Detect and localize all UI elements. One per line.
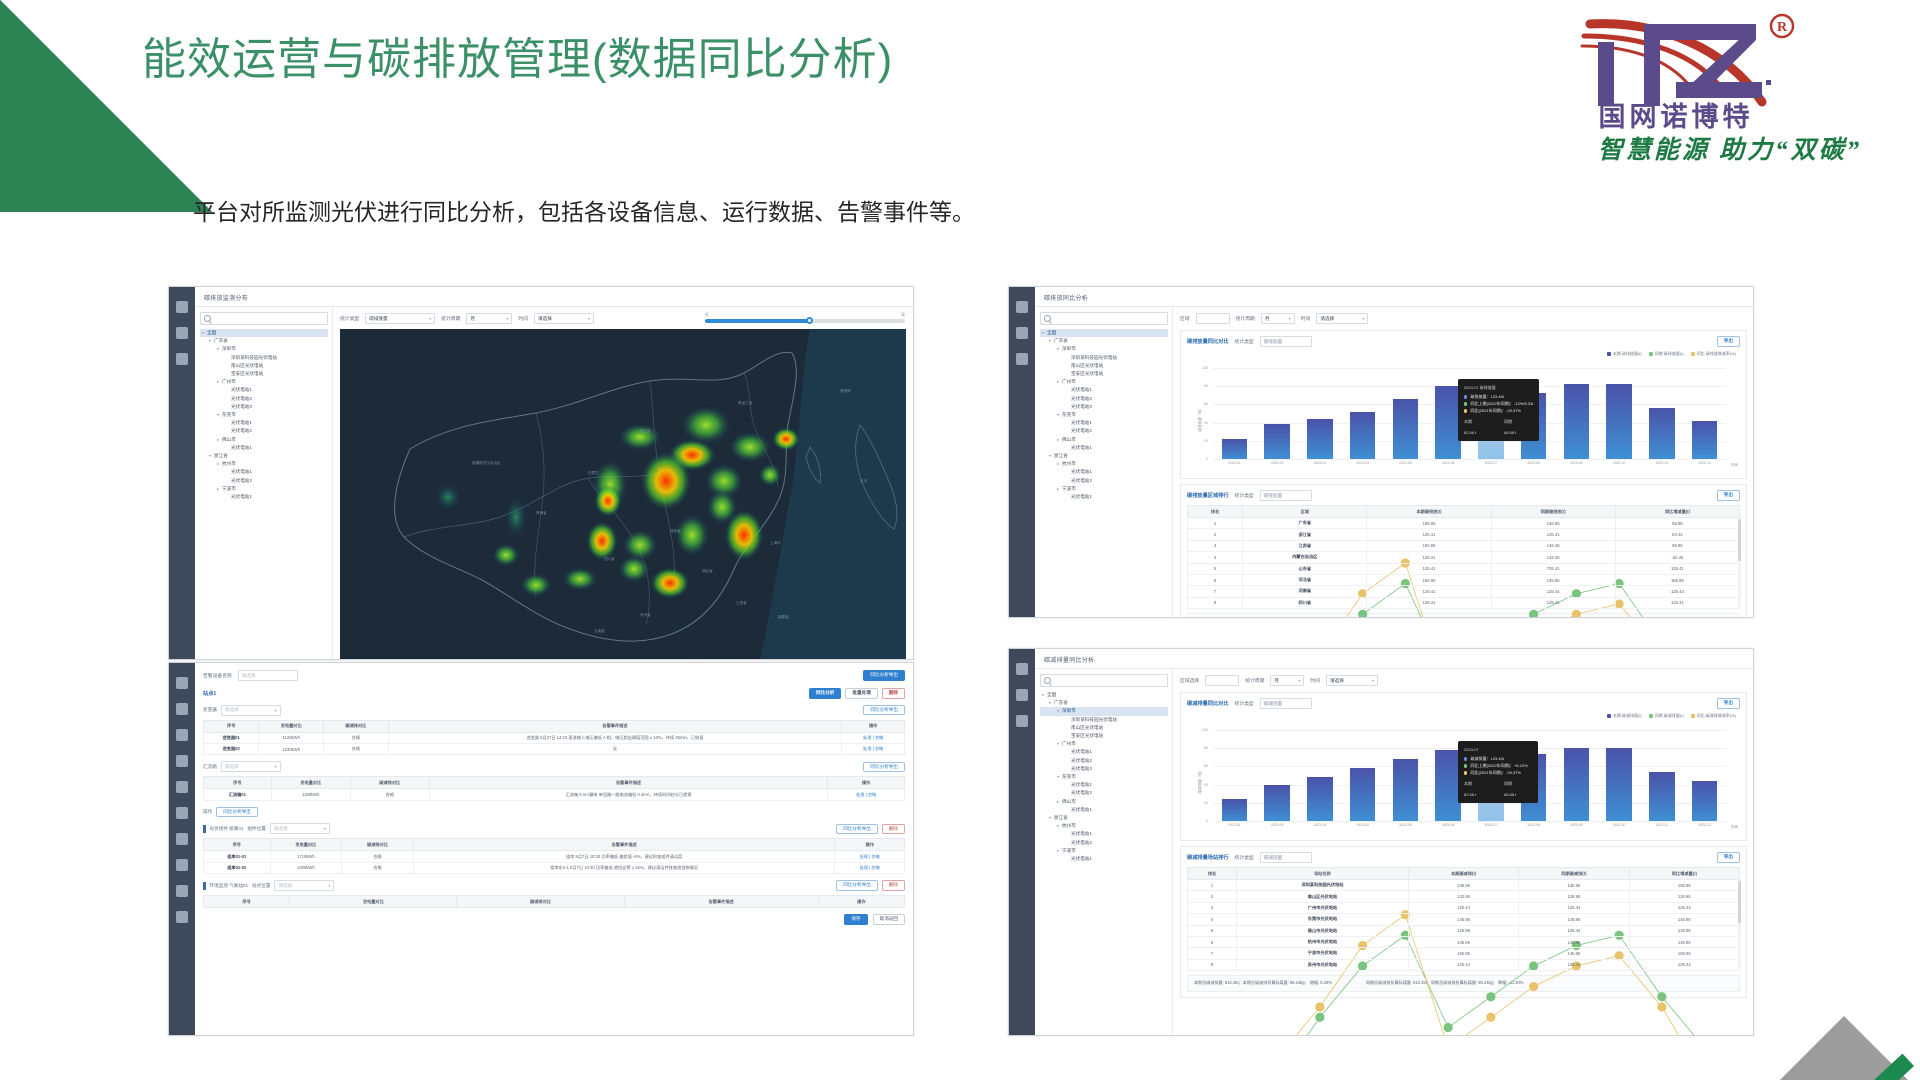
- logo-company-name: 国网诺博特: [1599, 101, 1754, 132]
- filter-select[interactable]: 月▾: [466, 313, 512, 324]
- table-cell: 广东省: [1243, 518, 1367, 529]
- y-axis-tick: 0: [1206, 819, 1208, 823]
- tree-node-list-emission[interactable]: ▾全国▾广东省▾深圳市深圳某科技园光伏电站南山区光伏电站宝安区光伏电站▾广州市光…: [1040, 329, 1168, 501]
- emission-bar-chart[interactable]: 本期 碳排放量(t)同期 碳排放量(t)同比 碳排放增减率(%)碳排放量（吨）0…: [1187, 351, 1740, 473]
- tree-node[interactable]: ▾东莞市: [1040, 773, 1168, 781]
- alarm-sub-label: 操作: [203, 809, 212, 815]
- chevron-down-icon: ▾: [506, 316, 508, 321]
- section-export-button[interactable]: 同比分析导出: [863, 705, 905, 716]
- tree-node[interactable]: ▸杭州市: [1040, 822, 1168, 830]
- chevron-down-icon: ▾: [1289, 316, 1291, 321]
- legend-swatch: [1607, 714, 1611, 718]
- table-cell: 168.95: [1629, 948, 1739, 959]
- tooltip-dot: [1464, 764, 1468, 768]
- tree-node[interactable]: ▾广东省: [1040, 699, 1168, 707]
- tree-node[interactable]: 南山区光伏电站: [1040, 362, 1168, 370]
- table-cell: 132.45: [1491, 552, 1615, 563]
- home-icon[interactable]: [176, 301, 188, 313]
- table-cell: 河南省: [1243, 586, 1367, 597]
- tree-node-list-map[interactable]: ▾全国▾广东省▾深圳市深圳某科技园光伏电站南山区光伏电站宝安区光伏电站▾广州市光…: [200, 329, 328, 501]
- chart-tooltip: 2023-07碳减排量：123.45t同比上期(2022年同期)：+6.12%同…: [1458, 741, 1538, 803]
- legend-item[interactable]: 本期 碳减排量(t): [1607, 713, 1642, 719]
- table-row[interactable]: 1广东省168.95146.9568.95: [1188, 518, 1740, 529]
- tree-node[interactable]: 光伏电站1: [200, 493, 328, 501]
- column-header: 碳减排对比: [324, 720, 389, 732]
- table-row[interactable]: 逆变器011120kWh合格逆变器 5月27日 14:23 直流输入电压偏低 A…: [204, 732, 905, 743]
- reduction-rank-table-wrap[interactable]: 排名场站名称本期碳减排(t)同期碳减排(t)同比增减量(t)1深圳某科技园光伏电…: [1187, 867, 1740, 971]
- filter-label: 时间: [1310, 677, 1320, 684]
- table-row[interactable]: 4内蒙古自治区129.41132.45-62.45: [1188, 552, 1740, 563]
- chart-icon[interactable]: [1016, 689, 1028, 701]
- emission-chart-type-select[interactable]: 碳排放量: [1260, 336, 1312, 347]
- column-header: 序号: [204, 720, 259, 732]
- group-compare-button[interactable]: 同比分析: [809, 688, 841, 699]
- tree-node-label: 广州市: [1062, 378, 1076, 386]
- chart-icon[interactable]: [176, 327, 188, 339]
- section-export-button[interactable]: 同比分析导出: [863, 762, 905, 773]
- table-cell: 702.41: [1491, 563, 1615, 574]
- table-row[interactable]: 2浙江省125.41125.4164.42: [1188, 529, 1740, 540]
- app-rail-emission[interactable]: [1009, 287, 1035, 617]
- table-cell: 4: [1188, 914, 1237, 925]
- tree-node[interactable]: 光伏电站1: [200, 444, 328, 452]
- search-icon: [1044, 677, 1051, 684]
- column-header: 同期碳减排(t): [1519, 868, 1629, 880]
- table-row[interactable]: 7宁波市光伏电站165.95145.95168.95: [1188, 948, 1740, 959]
- tree-node-label: 宁波市: [222, 485, 236, 493]
- slider-knob[interactable]: [806, 317, 813, 324]
- table-row[interactable]: 逆变器021230kWh合格无处理 | 忽略: [204, 743, 905, 754]
- group-batch-button[interactable]: 批量处理: [845, 688, 877, 699]
- tree-node[interactable]: 光伏电站1: [1040, 855, 1168, 863]
- table-cell: 132.95: [1408, 891, 1518, 902]
- map-region-label: 青海省: [536, 511, 547, 516]
- filter-select[interactable]: 月▾: [1261, 313, 1295, 324]
- table-cell: 165.95: [1408, 948, 1518, 959]
- tooltip-table-head: 本期同期: [1464, 780, 1532, 787]
- tree-node[interactable]: 光伏电站3: [200, 403, 328, 411]
- block-buttons: 同比分析导出删除: [836, 824, 905, 835]
- table-cell: 深圳某科技园光伏电站: [1237, 880, 1409, 891]
- table-cell: 7: [1188, 948, 1237, 959]
- table-cell: 125.41: [1615, 563, 1739, 574]
- table-cell: 杭州市光伏电站: [1237, 936, 1409, 947]
- column-header: 操作: [842, 720, 905, 732]
- table-cell: 146.95: [1519, 936, 1629, 947]
- block-filter-select[interactable]: 请选择▾: [274, 880, 334, 891]
- column-header: 排名: [1188, 868, 1237, 880]
- column-header: 发电量对比: [290, 896, 457, 908]
- tree-node-label: 光伏电站1: [231, 493, 252, 501]
- tooltip-dot: [1464, 409, 1468, 413]
- table-cell: 组串01-02: [204, 862, 271, 873]
- tree-node[interactable]: ▾广州市: [200, 378, 328, 386]
- tree-node[interactable]: 光伏电站1: [1040, 493, 1168, 501]
- region-tree-reduction[interactable]: ▾全国▾广东省▾深圳市深圳某科技园光伏电站南山区光伏电站宝安区光伏电站▾广州市光…: [1035, 669, 1173, 1035]
- filter-text[interactable]: [1196, 313, 1230, 324]
- tree-node[interactable]: ▾深圳市: [1040, 345, 1168, 353]
- table-row[interactable]: 5山东省125.41702.41125.41: [1188, 563, 1740, 574]
- tree-node[interactable]: ▾深圳市: [1040, 707, 1168, 715]
- tree-node[interactable]: ▾深圳市: [200, 345, 328, 353]
- column-header: 场站名称: [1237, 868, 1409, 880]
- table-cell: 165.95: [1367, 574, 1491, 585]
- table-cell: 125.41: [1615, 597, 1739, 608]
- alarm-group-title: 站点1: [203, 690, 216, 697]
- tree-node[interactable]: ▾广东省: [200, 337, 328, 345]
- y-axis-tick: 40: [1204, 783, 1208, 787]
- tree-node-label: 浙江省: [1054, 452, 1068, 460]
- table-row[interactable]: 组串01-021300kWh合格组串东2-1 5月7日 10:30 功率偏低 遮…: [204, 862, 905, 873]
- chevron-down-icon: ▾: [324, 826, 326, 831]
- region-tree-map[interactable]: ▾全国▾广东省▾深圳市深圳某科技园光伏电站南山区光伏电站宝安区光伏电站▾广州市光…: [195, 307, 333, 659]
- tree-node[interactable]: 光伏电站1: [1040, 386, 1168, 394]
- legend-item[interactable]: 同比 碳减排增减率(%): [1691, 713, 1736, 719]
- logo-slogan: 智慧能源 助力“双碳”: [1554, 130, 1906, 166]
- column-header: 同比增减量(t): [1629, 868, 1739, 880]
- filter-label: 统计周期: [1236, 315, 1255, 322]
- tree-node[interactable]: 光伏电站1: [1040, 781, 1168, 789]
- tree-node[interactable]: 光伏电站3: [1040, 765, 1168, 773]
- tree-node[interactable]: 光伏电站1: [1040, 748, 1168, 756]
- tree-node-label: 杭州市: [1062, 460, 1076, 468]
- emission-filter-bar[interactable]: 区域统计周期月▾时间请选择▾: [1180, 312, 1747, 325]
- alarm-sub-export-button[interactable]: 同比分析导出: [216, 807, 258, 818]
- tree-node[interactable]: ▾全国: [200, 329, 328, 337]
- group-delete-button[interactable]: 删除: [882, 688, 905, 699]
- company-logo: R 国网诺博特 智慧能源 助力“双碳”: [1548, 6, 1908, 171]
- table-row[interactable]: 4东莞市光伏电站145.95145.95146.95: [1188, 914, 1740, 925]
- app-body-reduction: ▾全国▾广东省▾深圳市深圳某科技园光伏电站南山区光伏电站宝安区光伏电站▾广州市光…: [1035, 669, 1753, 1035]
- table-row[interactable]: 汇流箱011180kWh合格汇流箱 5 mA漏电 单回路一路电流偏低 0.4mA…: [204, 789, 905, 800]
- emission-rank-table-wrap[interactable]: 排名区域本期碳排放(t)同期碳排放(t)同比增减量(t)1广东省168.9514…: [1187, 505, 1740, 609]
- block-delete-button[interactable]: 删除: [882, 880, 905, 891]
- table-cell: 广州市光伏电站: [1237, 902, 1409, 913]
- tree-node[interactable]: 宝安区光伏电站: [1040, 732, 1168, 740]
- table-cell: 处理 | 忽略: [842, 743, 905, 754]
- bullet-marker: [203, 825, 206, 833]
- legend-item[interactable]: 本期 碳排放量(t): [1607, 351, 1642, 357]
- tree-node[interactable]: 光伏电站2: [1040, 477, 1168, 485]
- legend-label: 本期 碳排放量(t): [1613, 351, 1642, 356]
- emission-rank-card: 碳排放量区域排行 统计类型 碳排放量 导出 排名区域本期碳排放(t)同期碳排放(…: [1180, 484, 1747, 618]
- tree-node[interactable]: ▸杭州市: [200, 460, 328, 468]
- tooltip-row: 同比(2021年同期)：-29.37%: [1464, 407, 1533, 414]
- column-header: 序号: [204, 896, 290, 908]
- block-export-button[interactable]: 同比分析导出: [836, 880, 878, 891]
- legend-label: 同期 碳排放量(t): [1655, 351, 1684, 356]
- y-axis-tick: 80: [1204, 384, 1208, 388]
- screenshot-emission-comparison: 碳排放同比分析 ▾全国▾广东省▾深圳市深圳某科技园光伏电站南山区光伏电站宝安区光…: [1008, 286, 1754, 618]
- filter-text[interactable]: [1205, 675, 1239, 686]
- home-icon[interactable]: [176, 677, 188, 689]
- alarm-table-wrap: 序号发电量对比碳减排对比告警事件描述操作组串01-011710kWh合格组串 5…: [203, 838, 905, 874]
- tree-node[interactable]: ▾东莞市: [1040, 411, 1168, 419]
- table-cell: 8: [1188, 597, 1243, 608]
- presentation-slide: 能效运营与碳排放管理(数据同比分析) 平台对所监测光伏进行同比分析，包括各设备信…: [0, 0, 1920, 1080]
- filter-date[interactable]: 请选择▾: [1326, 675, 1378, 686]
- table-cell: 浙江省: [1243, 529, 1367, 540]
- tree-node[interactable]: 深圳某科技园光伏电站: [1040, 354, 1168, 362]
- chart-plot-area: 碳减排量（吨）0204060801002023-012023-022023-03…: [1187, 726, 1740, 835]
- chevron-down-icon: ▾: [1362, 316, 1364, 321]
- alarm-block-head: 光伏组件 组串01组件位置请选择▾同比分析导出删除: [203, 823, 905, 834]
- block-delete-button[interactable]: 删除: [882, 824, 905, 835]
- reduction-chart-type-select[interactable]: 碳减排量: [1260, 698, 1312, 709]
- x-axis-end-label: 时间: [1731, 824, 1738, 829]
- chart-plot-area: 碳排放量（吨）0204060801002023-012023-022023-03…: [1187, 364, 1740, 473]
- block-filter-select[interactable]: 请选择▾: [270, 823, 330, 834]
- tree-node-label: 深圳市: [1062, 345, 1076, 353]
- tree-node[interactable]: 光伏电站2: [1040, 839, 1168, 847]
- legend-item[interactable]: 同期 碳减排量(t): [1649, 713, 1684, 719]
- tree-node[interactable]: ▾东莞市: [200, 411, 328, 419]
- map-region-label: 日本: [860, 479, 867, 484]
- tree-node[interactable]: ▸佛山市: [1040, 436, 1168, 444]
- page-title: 能效运营与碳排放管理(数据同比分析): [142, 32, 893, 87]
- table-cell: 组串东2-1 5月7日 10:30 功率偏低 遮挡告警 ≥ 15%，建议清洁并排…: [413, 862, 835, 873]
- tree-node-list-reduction[interactable]: ▾全国▾广东省▾深圳市深圳某科技园光伏电站南山区光伏电站宝安区光伏电站▾广州市光…: [1040, 691, 1168, 863]
- tree-node[interactable]: ▾广东省: [1040, 337, 1168, 345]
- table-cell: 145.95: [1519, 948, 1629, 959]
- y-axis-tick: 80: [1204, 746, 1208, 750]
- tree-node[interactable]: ▸佛山市: [200, 436, 328, 444]
- tree-node[interactable]: 光伏电站1: [1040, 830, 1168, 838]
- tooltip-col-head: 本期: [1464, 418, 1492, 425]
- settings-icon[interactable]: [176, 755, 188, 767]
- tree-node[interactable]: ▾浙江省: [1040, 814, 1168, 822]
- tree-node[interactable]: ▾浙江省: [200, 452, 328, 460]
- tree-node[interactable]: 光伏电站1: [200, 419, 328, 427]
- book-icon[interactable]: [176, 885, 188, 897]
- tree-node[interactable]: 光伏电站2: [1040, 789, 1168, 797]
- table-cell: 146.95: [1629, 914, 1739, 925]
- tree-node-label: 全国: [1047, 329, 1056, 337]
- user-icon[interactable]: [176, 859, 188, 871]
- tree-node[interactable]: 光伏电站1: [200, 468, 328, 476]
- tree-node-label: 浙江省: [1054, 814, 1068, 822]
- tree-node-label: 光伏电站1: [1071, 493, 1092, 501]
- table-cell: 四川省: [1243, 597, 1367, 608]
- tree-node-label: 广东省: [1054, 337, 1068, 345]
- home-icon[interactable]: [1016, 301, 1028, 313]
- database-icon[interactable]: [1016, 715, 1028, 727]
- table-row[interactable]: 6杭州市光伏电站146.95146.95146.95: [1188, 936, 1740, 947]
- tree-search-input-reduction[interactable]: [1040, 674, 1168, 687]
- database-icon[interactable]: [176, 729, 188, 741]
- tree-node[interactable]: ▾全国: [1040, 691, 1168, 699]
- tree-node[interactable]: 光伏电站2: [200, 395, 328, 403]
- column-header: 告警事件描述: [429, 777, 828, 789]
- filter-date[interactable]: 请选择▾: [534, 313, 594, 324]
- lock-icon[interactable]: [176, 911, 188, 923]
- y-axis-tick: 100: [1202, 728, 1208, 732]
- tree-node[interactable]: 光伏电站1: [1040, 806, 1168, 814]
- database-icon[interactable]: [176, 353, 188, 365]
- filter-select[interactable]: 月▾: [1270, 675, 1304, 686]
- table-cell: 145.95: [1408, 914, 1518, 925]
- screenshot-alarm-events: 告警设备名称 请选择 同比分析导出 站点1 同比分析 批量处理 删除 逆变器请选…: [168, 662, 914, 1036]
- emission-chart-export-button[interactable]: 导出: [1717, 336, 1740, 347]
- tree-node-label: 佛山市: [222, 436, 236, 444]
- region-tree-emission[interactable]: ▾全国▾广东省▾深圳市深圳某科技园光伏电站南山区光伏电站宝安区光伏电站▾广州市光…: [1035, 307, 1173, 617]
- table-row[interactable]: 7河南省129.41125.44125.44: [1188, 586, 1740, 597]
- section-filter-select[interactable]: 请选择▾: [221, 705, 281, 716]
- tree-node[interactable]: 光伏电站1: [200, 386, 328, 394]
- table-cell: 2: [1188, 529, 1243, 540]
- tree-node-label: 光伏电站3: [231, 403, 252, 411]
- layers-icon[interactable]: [176, 833, 188, 845]
- save-button[interactable]: 保存: [844, 914, 867, 925]
- tree-node-label: 深圳某科技园光伏电站: [1071, 354, 1117, 362]
- table-row[interactable]: 1深圳某科技园光伏电站146.95146.95156.95: [1188, 880, 1740, 891]
- table-row[interactable]: 2南山区光伏电站132.95128.95118.95: [1188, 891, 1740, 902]
- tree-node-label: 广州市: [1062, 740, 1076, 748]
- chart-icon[interactable]: [176, 703, 188, 715]
- map-region-label: 俄罗斯: [840, 389, 851, 394]
- tree-node[interactable]: 光伏电站3: [1040, 403, 1168, 411]
- cancel-return-button[interactable]: 取消返回: [873, 914, 905, 925]
- filter-label: 时间: [518, 315, 528, 322]
- tree-search-input-emission[interactable]: [1040, 312, 1168, 325]
- tree-node-label: 深圳某科技园光伏电站: [1071, 716, 1117, 724]
- table-row[interactable]: 3江苏省160.95146.4699.95: [1188, 540, 1740, 551]
- home-icon[interactable]: [1016, 663, 1028, 675]
- filter-select[interactable]: 碳排放量▾: [365, 313, 435, 324]
- tree-node[interactable]: 光伏电站2: [200, 477, 328, 485]
- app-rail-reduction[interactable]: [1009, 649, 1035, 1035]
- tooltip-label: 同比上期(2022年同期)：-12%/5.31t: [1470, 400, 1533, 407]
- tree-node[interactable]: ▸佛山市: [1040, 798, 1168, 806]
- table-row[interactable]: 8四川省129.41125.41125.41: [1188, 597, 1740, 608]
- tooltip-row: 同比(2021年同期)：-29.37%: [1464, 769, 1532, 776]
- tree-node[interactable]: 深圳某科技园光伏电站: [200, 354, 328, 362]
- tree-node[interactable]: 光伏电站1: [1040, 468, 1168, 476]
- app-window-emission: 碳排放同比分析 ▾全国▾广东省▾深圳市深圳某科技园光伏电站南山区光伏电站宝安区光…: [1035, 287, 1753, 617]
- table-cell: 125.44: [1519, 959, 1629, 970]
- table-cell: 125.95: [1408, 925, 1518, 936]
- tree-node[interactable]: 光伏电站2: [1040, 427, 1168, 435]
- tree-node[interactable]: ▾广州市: [1040, 378, 1168, 386]
- section-filter-select[interactable]: 请选择▾: [221, 761, 281, 772]
- chevron-down-icon: ▾: [275, 764, 277, 769]
- app-rail-alarm[interactable]: [169, 663, 195, 1035]
- legend-item[interactable]: 同比 碳排放增减率(%): [1691, 351, 1736, 357]
- table-cell: 1710kWh: [270, 851, 342, 862]
- tree-node[interactable]: ▸宁波市: [1040, 485, 1168, 493]
- legend-swatch: [1607, 352, 1611, 356]
- emission-chart-sublabel: 统计类型: [1235, 338, 1254, 345]
- tree-node[interactable]: 光伏电站2: [200, 427, 328, 435]
- tree-node[interactable]: 南山区光伏电站: [1040, 724, 1168, 732]
- chart-icon[interactable]: [1016, 327, 1028, 339]
- tree-node-label: 深圳市: [222, 345, 236, 353]
- tree-node[interactable]: ▸宁波市: [1040, 847, 1168, 855]
- table-cell: 山东省: [1243, 563, 1367, 574]
- reduction-content: 区域选择统计周期月▾时间请选择▾ 碳减排量同比对比 统计类型 碳减排量 导出 本…: [1173, 669, 1753, 1035]
- tooltip-dot: [1464, 757, 1468, 761]
- reduction-bar-chart[interactable]: 本期 碳减排量(t)同期 碳减排量(t)同比 碳减排增减率(%)碳减排量（吨）0…: [1187, 713, 1740, 835]
- table-cell: 宁波市光伏电站: [1237, 948, 1409, 959]
- block-title: 环境监测 气象站01: [210, 883, 249, 889]
- table-row[interactable]: 组串01-011710kWh合格组串 5月7日 10:30 功率偏低 偏差值 -…: [204, 851, 905, 862]
- y-axis-tick: 60: [1204, 402, 1208, 406]
- tree-node-label: 佛山市: [1062, 436, 1076, 444]
- app-title-map: 碳排放监测分布: [195, 287, 913, 307]
- china-heatmap[interactable]: 新疆维吾尔自治区内蒙古青海省蒙古国黑龙江省四川省陕西省湖北省江西省贵州省云南省上…: [340, 329, 906, 659]
- database-icon[interactable]: [1016, 353, 1028, 365]
- export-comparison-button[interactable]: 同比分析导出: [863, 670, 905, 681]
- table-row[interactable]: 3广州市光伏电站125.44125.44125.44: [1188, 902, 1740, 913]
- tree-node[interactable]: 南山区光伏电站: [200, 362, 328, 370]
- table-cell: 处理 | 忽略: [842, 732, 905, 743]
- tree-search-input-map[interactable]: [200, 312, 328, 325]
- tree-node[interactable]: ▾浙江省: [1040, 452, 1168, 460]
- block-export-button[interactable]: 同比分析导出: [836, 824, 878, 835]
- table-row[interactable]: 5佛山市光伏电站125.95125.44128.95: [1188, 925, 1740, 936]
- tree-node[interactable]: ▾广州市: [1040, 740, 1168, 748]
- table-cell: 125.44: [1615, 586, 1739, 597]
- tree-node[interactable]: 光伏电站2: [1040, 395, 1168, 403]
- tree-node[interactable]: 宝安区光伏电站: [1040, 370, 1168, 378]
- table-row[interactable]: 8苏州市光伏电站125.44125.44125.44: [1188, 959, 1740, 970]
- alarm-table: 序号发电量对比碳减排对比告警事件描述操作汇流箱011180kWh合格汇流箱 5 …: [203, 776, 905, 800]
- alarm-section-list: 逆变器请选择▾同比分析导出序号发电量对比碳减排对比告警事件描述操作逆变器0111…: [203, 705, 905, 801]
- table-cell: 组串 5月7日 10:30 功率偏低 偏差值 -6%，建议检查组件清洁度: [413, 851, 835, 862]
- tooltip-row: 碳减排量：123.45t: [1464, 755, 1532, 762]
- table-row[interactable]: 6河北省165.95145.95165.95: [1188, 574, 1740, 585]
- bell-icon[interactable]: [176, 807, 188, 819]
- tree-node[interactable]: ▾全国: [1040, 329, 1168, 337]
- legend-item[interactable]: 同期 碳排放量(t): [1649, 351, 1684, 357]
- tree-node[interactable]: 宝安区光伏电站: [200, 370, 328, 378]
- tooltip-label: 同比上期(2022年同期)：+6.12%: [1470, 762, 1527, 769]
- search-icon: [204, 315, 211, 322]
- tree-node-label: 深圳市: [1062, 707, 1076, 715]
- logo-mark: R 国网诺博特: [1548, 6, 1908, 136]
- app-rail-map[interactable]: [169, 287, 195, 659]
- tree-node-label: 广东省: [1054, 699, 1068, 707]
- filter-date[interactable]: 请选择▾: [1316, 313, 1368, 324]
- table-cell: 5: [1188, 563, 1243, 574]
- column-header: 同期碳排放(t): [1491, 506, 1615, 518]
- tree-node[interactable]: ▸宁波市: [200, 485, 328, 493]
- tree-node[interactable]: 光伏电站1: [1040, 419, 1168, 427]
- tree-node-label: 南山区光伏电站: [1071, 724, 1103, 732]
- slider-track[interactable]: [705, 319, 905, 323]
- column-header: 发电量对比: [271, 777, 350, 789]
- alarm-filter-select[interactable]: 请选择: [238, 670, 298, 681]
- tree-node[interactable]: 深圳某科技园光伏电站: [1040, 716, 1168, 724]
- tooltip-title: 2023-07 碳排放量: [1464, 384, 1533, 391]
- table-scrollbar[interactable]: [1738, 515, 1741, 607]
- tree-node-label: 光伏电站1: [231, 468, 252, 476]
- reduction-filter-bar[interactable]: 区域选择统计周期月▾时间请选择▾: [1180, 674, 1747, 687]
- legend-label: 同比 碳减排增减率(%): [1697, 713, 1736, 718]
- tree-node-label: 光伏电站2: [1071, 395, 1092, 403]
- list-icon[interactable]: [176, 781, 188, 793]
- reduction-chart-export-button[interactable]: 导出: [1717, 698, 1740, 709]
- heat-intensity-slider[interactable]: 低 高: [705, 312, 905, 323]
- map-region-label: 福建省: [778, 615, 789, 620]
- tree-node-label: 佛山市: [1062, 798, 1076, 806]
- alarm-header-filter[interactable]: 告警设备名称 请选择 同比分析导出: [203, 669, 905, 682]
- alarm-footer-buttons[interactable]: 保存 取消返回: [203, 914, 905, 925]
- tree-node[interactable]: 光伏电站1: [1040, 444, 1168, 452]
- tree-node[interactable]: 光伏电站2: [1040, 757, 1168, 765]
- tree-node[interactable]: ▸杭州市: [1040, 460, 1168, 468]
- table-scrollbar[interactable]: [1738, 877, 1741, 969]
